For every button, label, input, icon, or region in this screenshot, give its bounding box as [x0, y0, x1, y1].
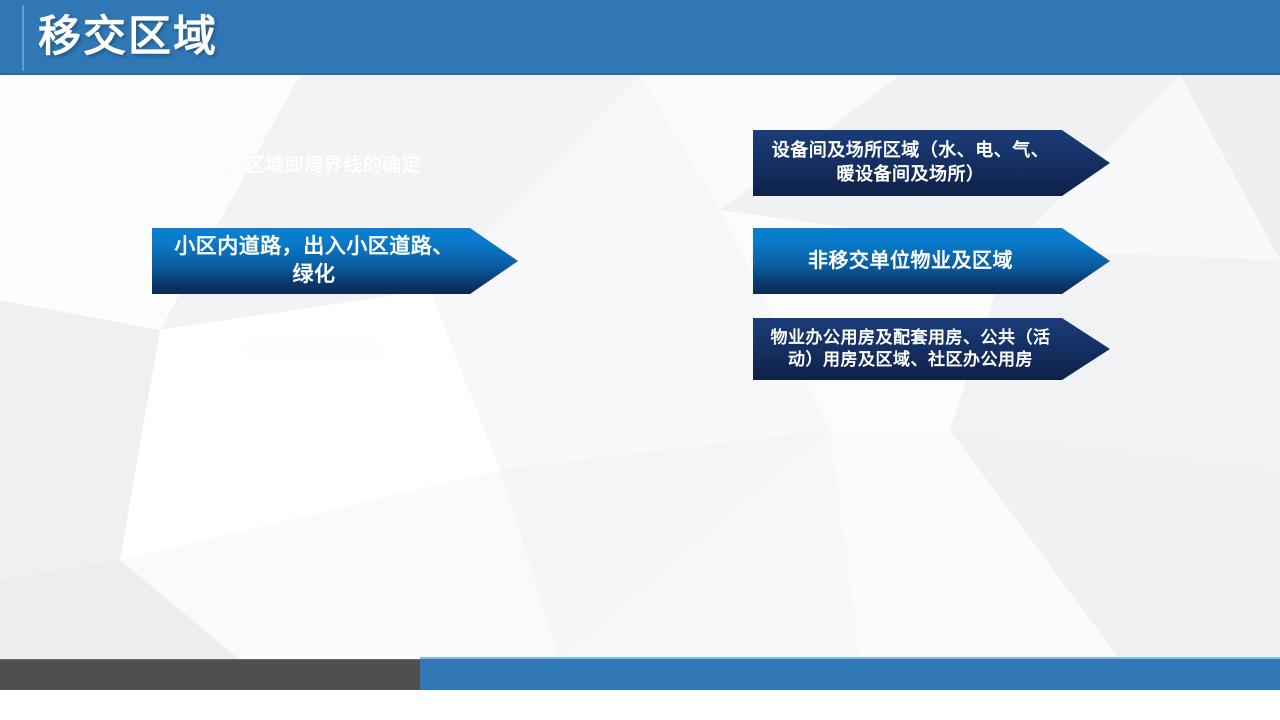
left-chevron-2-label: 小区内道路，出入小区道路、绿化 — [152, 233, 518, 288]
left-chevron-2[interactable]: 小区内道路，出入小区道路、绿化 — [152, 228, 518, 294]
header-accent-divider — [22, 5, 24, 71]
left-chevron-1-label: 红线区域即周界线的确定 — [152, 153, 518, 178]
right-chevron-2-label: 非移交单位物业及区域 — [753, 248, 1110, 274]
right-chevron-3-label: 物业办公用房及配套用房、公共（活动）用房及区域、社区办公用房 — [753, 327, 1110, 372]
header-bottom-edge — [0, 73, 1280, 75]
left-chevron-3[interactable]: 经营性商业物业 — [152, 322, 518, 378]
right-chevron-1-label: 设备间及场所区域（水、电、气、暖设备间及场所） — [753, 139, 1110, 187]
left-chevron-3-label: 经营性商业物业 — [152, 337, 518, 362]
footer-bar-blue-segment — [420, 659, 1280, 690]
footer-base-strip — [0, 690, 1280, 720]
right-chevron-3[interactable]: 物业办公用房及配套用房、公共（活动）用房及区域、社区办公用房 — [753, 318, 1110, 380]
right-chevron-2[interactable]: 非移交单位物业及区域 — [753, 228, 1110, 294]
footer-bar-dark-segment — [0, 659, 420, 690]
slide-canvas: 移交区域 红线区域即周界线的确定 小区内道路，出入小区道路、绿化 经营性商业物业… — [0, 0, 1280, 720]
page-title: 移交区域 — [38, 7, 218, 67]
left-chevron-1[interactable]: 红线区域即周界线的确定 — [152, 140, 518, 192]
right-chevron-1[interactable]: 设备间及场所区域（水、电、气、暖设备间及场所） — [753, 130, 1110, 196]
slide-header-bar: 移交区域 — [0, 0, 1280, 75]
